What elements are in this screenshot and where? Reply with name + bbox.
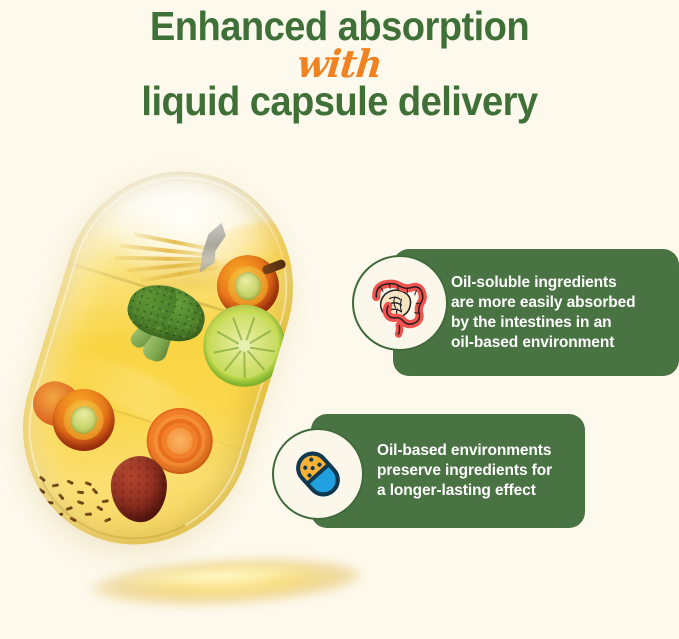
benefit-card-preservation-text: Oil-based environments preserve ingredie… <box>377 441 552 501</box>
benefit-card-absorption-text: Oil-soluble ingredients are more easily … <box>451 273 636 353</box>
broccoli-icon <box>115 276 212 371</box>
page-title: Enhanced absorption with liquid capsule … <box>0 2 679 122</box>
citrus-slice-icon <box>197 299 291 393</box>
capsule-shell <box>0 143 323 573</box>
intestines-icon-svg <box>363 266 437 340</box>
headline-line-3: liquid capsule delivery <box>24 81 655 122</box>
infographic-canvas: Enhanced absorption with liquid capsule … <box>0 0 679 639</box>
intestines-icon <box>352 255 448 351</box>
capsule-pill-icon-svg <box>285 441 351 507</box>
capsule-pill-icon <box>272 428 364 520</box>
